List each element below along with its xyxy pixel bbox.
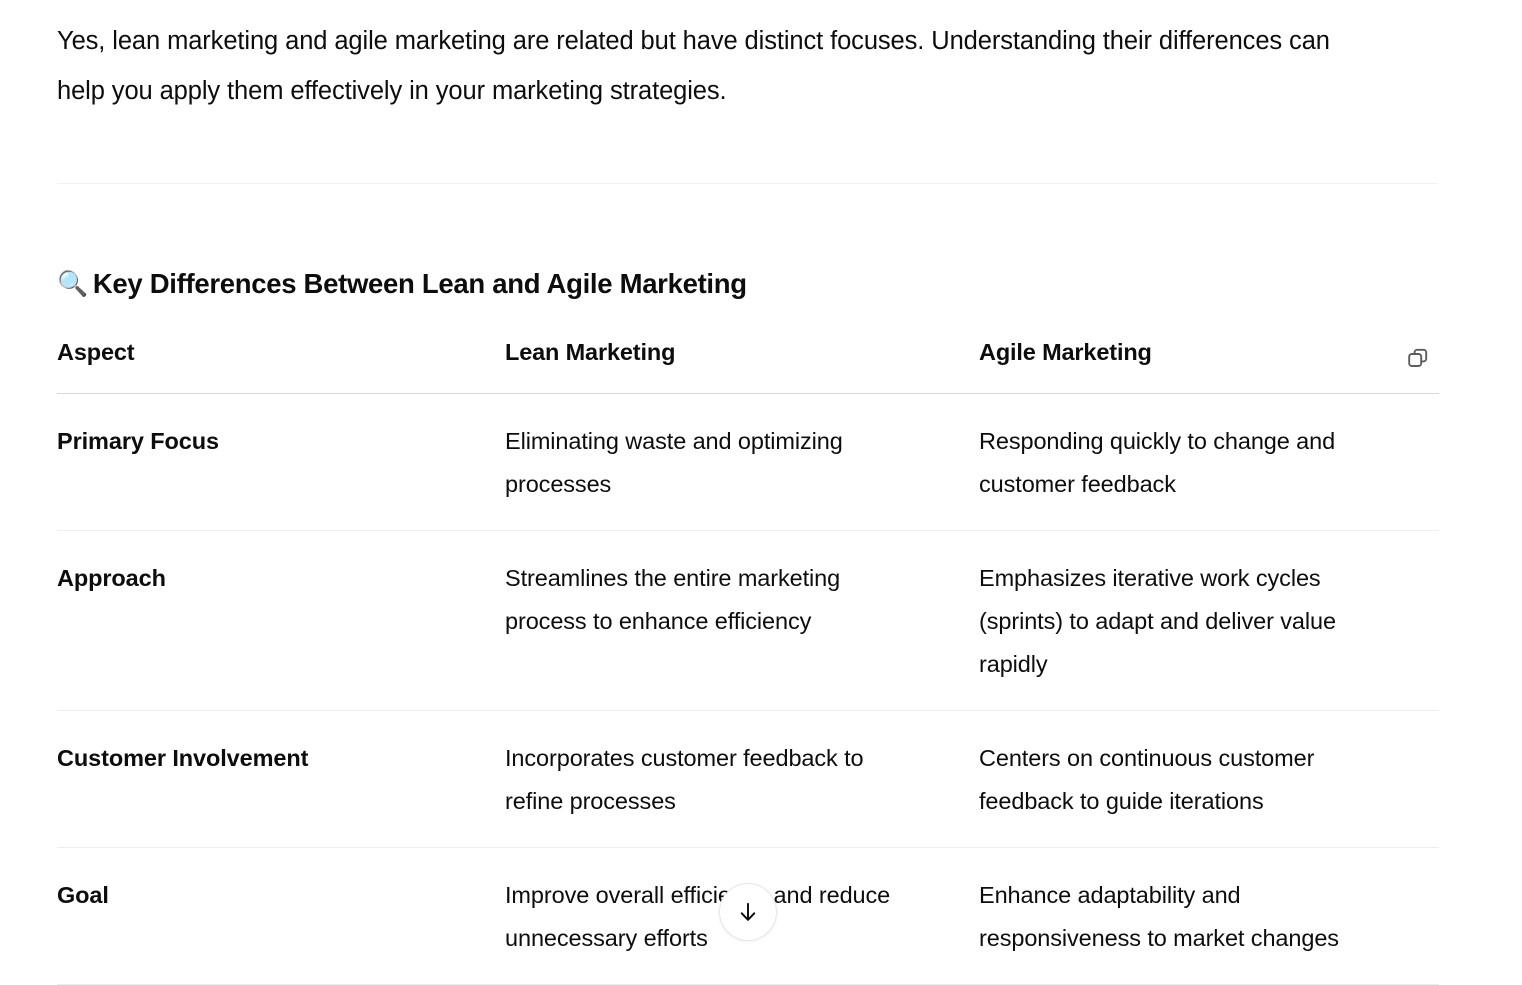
intro-paragraph: Yes, lean marketing and agile marketing … [57,0,1347,116]
cell-text: Centers on continuous customer feedback … [979,737,1399,823]
column-header-lean-marketing: Lean Marketing [505,335,979,394]
cell-text: Eliminating waste and optimizing process… [505,420,913,506]
page-title: 🔍Key Differences Between Lean and Agile … [57,263,747,305]
cell-agile: Emphasizes iterative work cycles (sprint… [979,531,1439,711]
answer-content: Yes, lean marketing and agile marketing … [57,0,1439,116]
table-header: Aspect Lean Marketing Agile Marketing [57,335,1439,394]
cell-lean: Eliminating waste and optimizing process… [505,394,979,531]
cell-lean: Streamlines the entire marketing process… [505,531,979,711]
cell-text: Customer Involvement [57,737,477,780]
copy-table-button[interactable] [1403,343,1433,373]
cell-agile: Centers on continuous customer feedback … [979,711,1439,848]
cell-aspect: Customer Involvement [57,711,505,848]
cell-text: Streamlines the entire marketing process… [505,557,913,643]
cell-text: Emphasizes iterative work cycles (sprint… [979,557,1399,686]
cell-text: Goal [57,874,477,917]
table-row: Customer Involvement Incorporates custom… [57,711,1439,848]
table-row: Approach Streamlines the entire marketin… [57,531,1439,711]
arrow-down-icon [735,899,761,925]
cell-text: Incorporates customer feedback to refine… [505,737,913,823]
copy-icon [1406,346,1430,370]
cell-text: Primary Focus [57,420,477,463]
table-row: Primary Focus Eliminating waste and opti… [57,394,1439,531]
page-root: Yes, lean marketing and agile marketing … [0,0,1522,936]
cell-aspect: Approach [57,531,505,711]
scroll-to-bottom-button[interactable] [719,883,777,941]
cell-text: Improve overall efficiency and reduce un… [505,874,913,960]
column-header-aspect: Aspect [57,335,505,394]
cell-text: Approach [57,557,477,600]
cell-text: Responding quickly to change and custome… [979,420,1399,506]
cell-agile: Responding quickly to change and custome… [979,394,1439,531]
section-divider [57,183,1438,184]
table-header-row: Aspect Lean Marketing Agile Marketing [57,335,1439,394]
cell-aspect: Primary Focus [57,394,505,531]
section-heading-text: Key Differences Between Lean and Agile M… [93,263,747,305]
column-header-agile-marketing: Agile Marketing [979,335,1439,394]
cell-lean: Incorporates customer feedback to refine… [505,711,979,848]
magnifying-glass-emoji: 🔍 [57,272,88,297]
cell-aspect: Goal [57,848,505,985]
cell-text: Enhance adaptability and responsiveness … [979,874,1399,960]
cell-agile: Enhance adaptability and responsiveness … [979,848,1439,985]
